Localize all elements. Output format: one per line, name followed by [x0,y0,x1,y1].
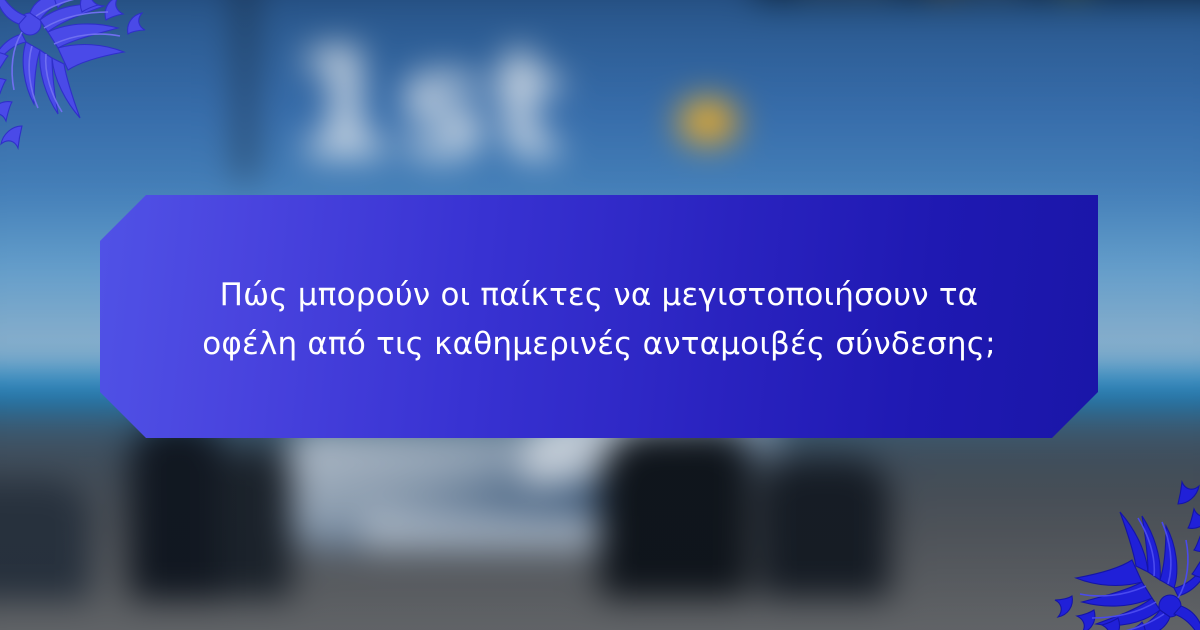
headline-line-2: οφέλη από τις καθημερινές ανταμοιβές σύν… [159,320,1039,368]
headline-line-1: Πώς μπορούν οι παίκτες να μεγιστοποιήσου… [159,271,1039,319]
headline-text: Πώς μπορούν οι παίκτες να μεγιστοποιήσου… [159,265,1039,367]
share-card: 1st [0,0,1200,630]
headline-banner: Πώς μπορούν οι παίκτες να μεγιστοποιήσου… [100,195,1098,438]
